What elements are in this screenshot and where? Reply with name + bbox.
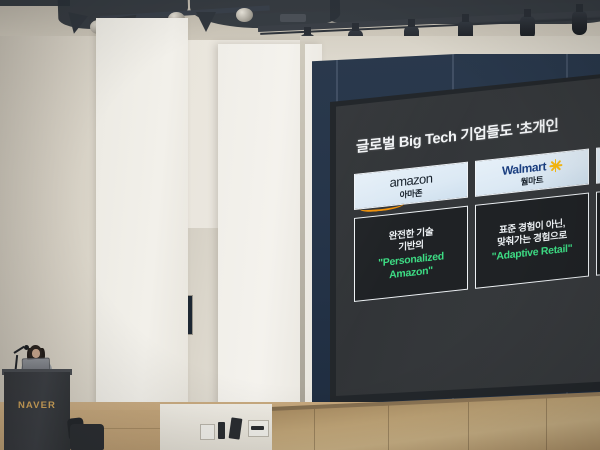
amazon-logo-icon: amazon: [390, 171, 433, 191]
amazon-swoosh-icon: [360, 200, 404, 213]
logo-card-third-cutoff: [596, 135, 600, 183]
walmart-spark-icon: [549, 158, 562, 172]
chair: [70, 424, 104, 450]
riser-seam: [314, 409, 315, 450]
wall-column-left: [96, 18, 188, 450]
stage-spotlight-icon: [572, 11, 587, 35]
speaker-face: [32, 349, 40, 358]
stage-light-icon: [196, 12, 216, 32]
stage-light-icon: [64, 12, 88, 36]
presentation-photo: 글로벌 Big Tech 기업들도 '초개인 amazon 아마존 Walmar…: [0, 0, 600, 450]
slide-title: 글로벌 Big Tech 기업들도 '초개인: [356, 103, 600, 157]
amazon-wordmark: amazon: [390, 173, 433, 190]
podium: [4, 372, 70, 450]
av-equipment: [218, 422, 225, 439]
amazon-korean-label: 아마존: [400, 188, 423, 199]
stage-light-icon: [236, 8, 253, 22]
podium-brand-logo: NAVER: [10, 400, 64, 411]
description-card-amazon: 완전한 기술 기반의 "Personalized Amazon": [354, 206, 468, 302]
wall-edge-highlight: [300, 42, 305, 414]
riser-seam: [388, 406, 389, 450]
wall-socket-plate: [200, 424, 215, 440]
logo-card-walmart: Walmart 월마트: [475, 149, 589, 197]
av-panel-detail: [251, 426, 264, 430]
riser-seam: [468, 402, 469, 450]
logo-card-amazon: amazon 아마존: [354, 162, 468, 210]
description-card-third-cutoff: [596, 179, 600, 275]
truss-fixture: [280, 14, 306, 22]
riser-seam: [546, 398, 547, 450]
description-english-line: "Personalized Amazon": [360, 248, 462, 284]
presentation-slide: 글로벌 Big Tech 기업들도 '초개인 amazon 아마존 Walmar…: [336, 78, 600, 396]
description-card-walmart: 표준 경험이 아닌, 맞춰가는 경험으로 "Adaptive Retail": [475, 193, 589, 289]
walmart-korean-label: 월마트: [521, 175, 544, 186]
